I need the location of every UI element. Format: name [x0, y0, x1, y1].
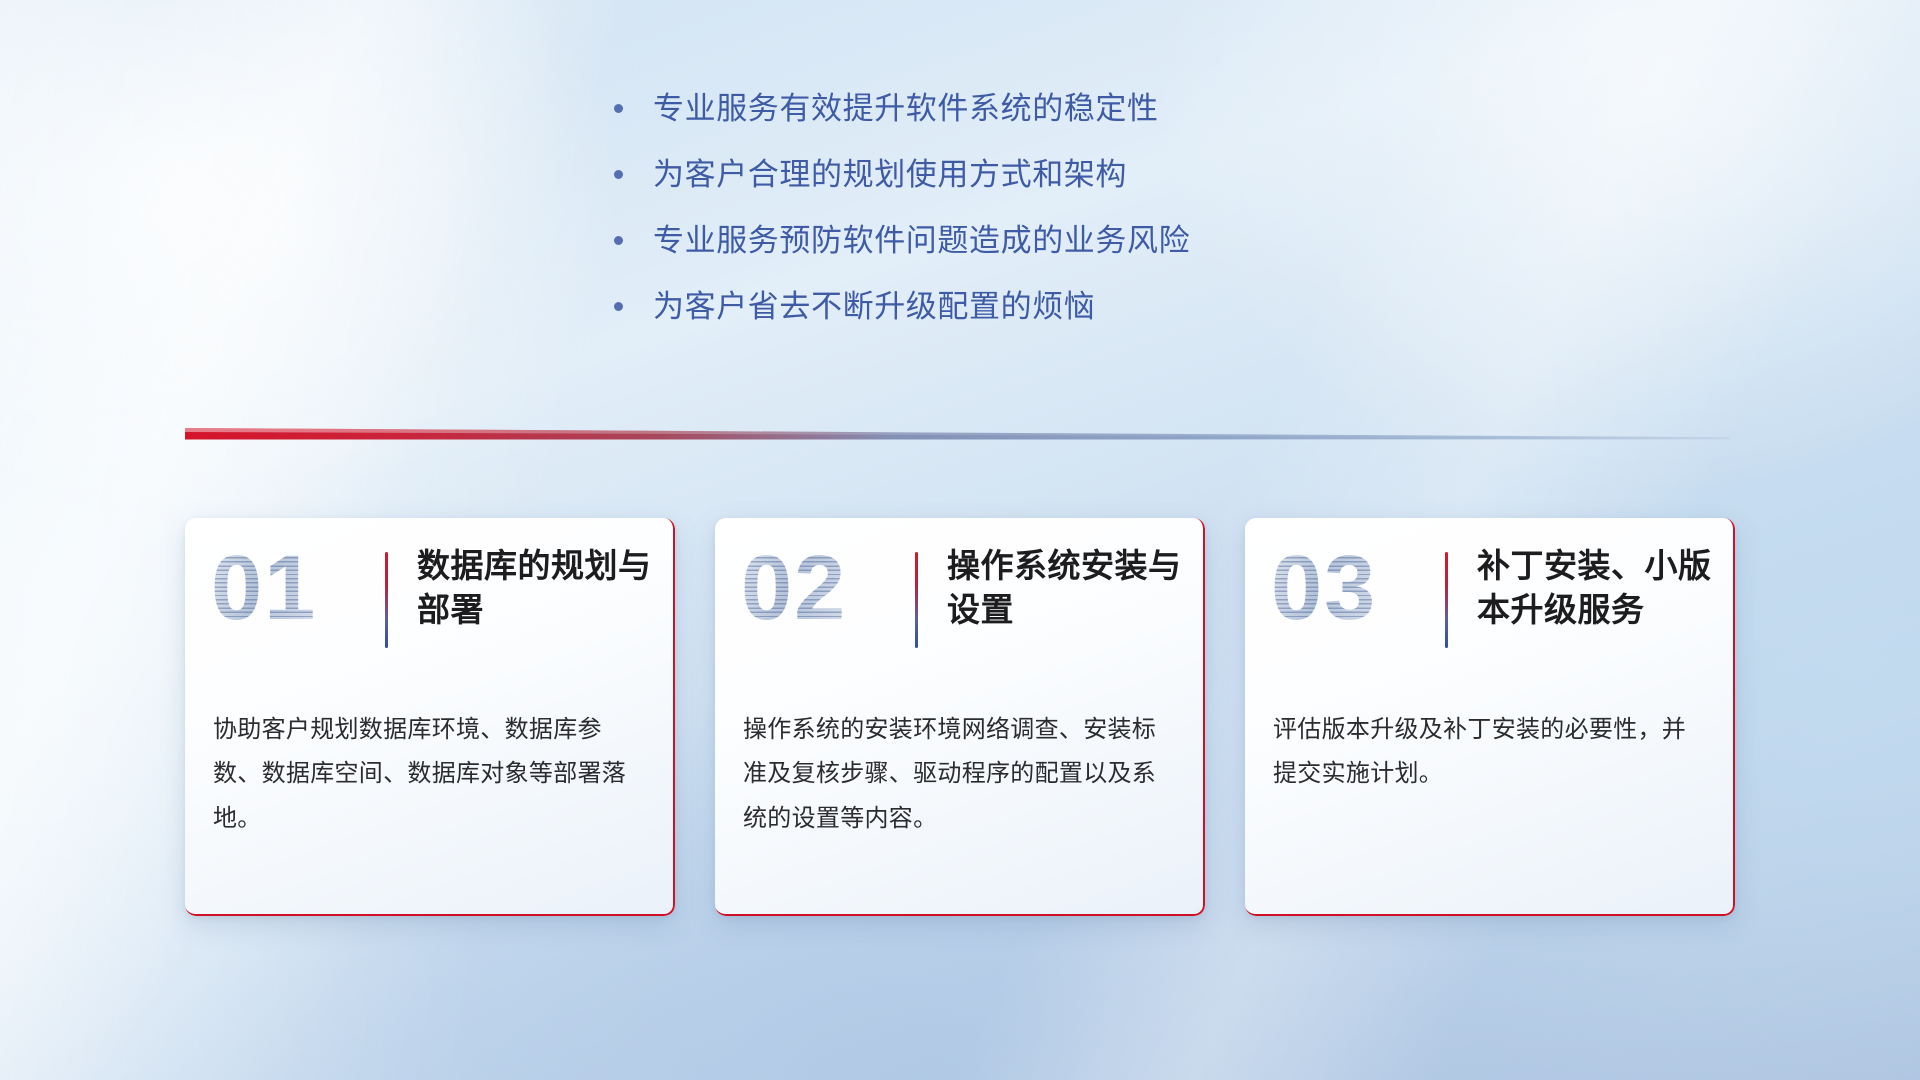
card-description: 操作系统的安装环境网络调查、安装标准及复核步骤、驱动程序的配置以及系统的设置等内…	[743, 708, 1179, 841]
bullet-dot-icon	[614, 236, 623, 245]
card-title: 数据库的规划与部署	[417, 544, 667, 632]
service-card-02[interactable]: 02 操作系统安装与设置 操作系统的安装环境网络调查、安装标准及复核步骤、驱动程…	[715, 518, 1205, 916]
section-divider	[185, 425, 1730, 447]
card-number-watermark: 01	[211, 542, 317, 634]
list-item: 为客户合理的规划使用方式和架构	[610, 154, 1310, 196]
service-card-grid: 01 数据库的规划与部署 协助客户规划数据库环境、数据库参数、数据库空间、数据库…	[185, 518, 1735, 916]
card-accent-rule	[915, 552, 918, 648]
benefits-bullet-list: 专业服务有效提升软件系统的稳定性 为客户合理的规划使用方式和架构 专业服务预防软…	[0, 88, 1920, 327]
service-card-03[interactable]: 03 补丁安装、小版本升级服务 评估版本升级及补丁安装的必要性，并提交实施计划。	[1245, 518, 1735, 916]
bullet-text: 专业服务有效提升软件系统的稳定性	[653, 88, 1159, 130]
list-item: 为客户省去不断升级配置的烦恼	[610, 286, 1310, 328]
bullet-text: 为客户合理的规划使用方式和架构	[653, 154, 1127, 196]
list-item: 专业服务有效提升软件系统的稳定性	[610, 88, 1310, 130]
bullet-dot-icon	[614, 302, 623, 311]
card-header: 02 操作系统安装与设置	[715, 518, 1205, 698]
card-header: 03 补丁安装、小版本升级服务	[1245, 518, 1735, 698]
card-accent-rule	[385, 552, 388, 648]
card-number-watermark: 03	[1271, 542, 1377, 634]
card-title: 补丁安装、小版本升级服务	[1477, 544, 1727, 632]
card-number-watermark: 02	[741, 542, 847, 634]
bullet-text: 为客户省去不断升级配置的烦恼	[653, 286, 1095, 328]
bullet-text: 专业服务预防软件问题造成的业务风险	[653, 220, 1190, 262]
slide-root: 专业服务有效提升软件系统的稳定性 为客户合理的规划使用方式和架构 专业服务预防软…	[0, 0, 1920, 1080]
card-accent-rule	[1445, 552, 1448, 648]
card-description: 协助客户规划数据库环境、数据库参数、数据库空间、数据库对象等部署落地。	[213, 708, 649, 841]
bullet-dot-icon	[614, 104, 623, 113]
bullet-dot-icon	[614, 170, 623, 179]
list-item: 专业服务预防软件问题造成的业务风险	[610, 220, 1310, 262]
card-title: 操作系统安装与设置	[947, 544, 1197, 632]
card-description: 评估版本升级及补丁安装的必要性，并提交实施计划。	[1273, 708, 1709, 797]
service-card-01[interactable]: 01 数据库的规划与部署 协助客户规划数据库环境、数据库参数、数据库空间、数据库…	[185, 518, 675, 916]
card-header: 01 数据库的规划与部署	[185, 518, 675, 698]
